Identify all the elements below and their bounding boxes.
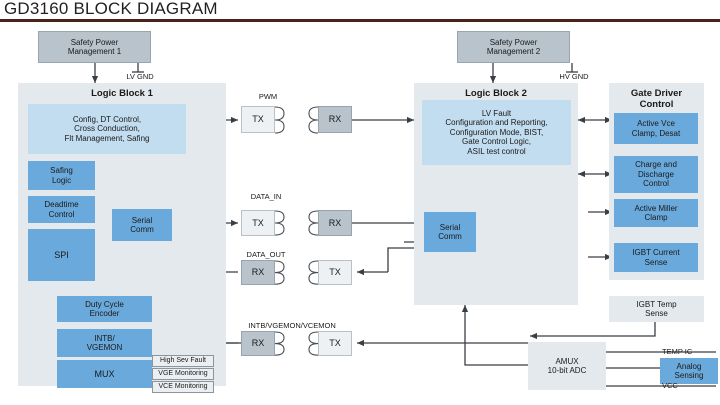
data-out-channel-label: DATA_OUT — [231, 250, 301, 259]
logic-block-2-title: Logic Block 2 — [414, 88, 578, 99]
intb-rx-block: RX — [241, 331, 275, 356]
active-vce-clamp-desat-block: Active Vce Clamp, Desat — [614, 113, 698, 144]
spm1-line1: Safety Power — [71, 38, 119, 47]
pwm-tx-label: TX — [252, 114, 264, 125]
temp-ic-label: TEMP IC — [662, 347, 718, 356]
deadtime-control-block: Deadtime Control — [28, 196, 95, 223]
hv-gnd-label: HV GND — [554, 72, 594, 81]
safety-power-management-1-block: Safety Power Management 1 — [38, 31, 151, 63]
spi-label: SPI — [54, 250, 69, 261]
data-out-tx-label: TX — [329, 267, 341, 278]
spm1-line2: Management 1 — [68, 47, 121, 56]
gdc-1-line1: Charge and — [635, 160, 677, 169]
gdc-0-line2: Clamp, Desat — [632, 129, 680, 138]
spm2-line2: Management 2 — [487, 47, 540, 56]
mux-signal-0-label: High Sev Fault — [160, 357, 206, 365]
intb-tx-label: TX — [329, 338, 341, 349]
title-bar: GD3160 BLOCK DIAGRAM — [0, 0, 720, 22]
serial-comm-lb1-block: Serial Comm — [112, 209, 172, 241]
mux-signal-vce-monitoring: VCE Monitoring — [152, 381, 214, 393]
duty-cycle-encoder-block: Duty Cycle Encoder — [57, 296, 152, 322]
gdc-3-line1: IGBT Current — [632, 248, 679, 257]
data-in-channel-label: DATA_IN — [231, 192, 301, 201]
intb-tx-block: TX — [318, 331, 352, 356]
deadtime-line2: Control — [49, 210, 75, 219]
gdc-0-line1: Active Vce — [637, 119, 675, 128]
amux-line1: AMUX — [555, 357, 578, 366]
igbt-temp-line2: Sense — [645, 309, 668, 318]
lv-fault-line3: Configuration Mode, BIST, — [450, 128, 543, 137]
gdc-2-line1: Active Miller — [634, 204, 677, 213]
gate-driver-control-title-line2: Control — [609, 99, 704, 110]
data-out-tx-block: TX — [318, 260, 352, 285]
lv-fault-line4: Gate Control Logic, — [462, 137, 531, 146]
mux-signal-vge-monitoring: VGE Monitoring — [152, 368, 214, 380]
intb-line1: INTB/ — [94, 334, 114, 343]
intb-channel-label: INTB/VGEMON/VCEMON — [222, 321, 362, 330]
gate-driver-control-title-line1: Gate Driver — [609, 88, 704, 99]
safing-line2: Logic — [52, 176, 71, 185]
serial-comm-lb1-line2: Comm — [130, 225, 154, 234]
lv-fault-block: LV Fault Configuration and Reporting, Co… — [422, 100, 571, 165]
duty-cycle-line2: Encoder — [90, 309, 120, 318]
mux-signal-1-label: VGE Monitoring — [158, 370, 207, 378]
page-title: GD3160 BLOCK DIAGRAM — [4, 0, 218, 19]
igbt-current-sense-block: IGBT Current Sense — [614, 243, 698, 272]
igbt-temp-sense-block: IGBT Temp Sense — [609, 296, 704, 322]
safing-line1: Safing — [50, 166, 73, 175]
gdc-1-line2: Discharge — [638, 170, 674, 179]
intb-rx-label: RX — [252, 338, 265, 349]
title-underline — [0, 19, 720, 22]
igbt-temp-line1: IGBT Temp — [636, 300, 676, 309]
mux-signal-high-sev-fault: High Sev Fault — [152, 355, 214, 367]
amux-line2: 10-bit ADC — [548, 366, 587, 375]
config-line1: Config, DT Control, — [73, 115, 141, 124]
pwm-rx-label: RX — [329, 114, 342, 125]
intb-line2: VGEMON — [87, 343, 123, 352]
intb-vgemon-block: INTB/ VGEMON — [57, 329, 152, 357]
gdc-1-line3: Control — [643, 179, 669, 188]
spi-block: SPI — [28, 229, 95, 281]
spm2-line1: Safety Power — [490, 38, 538, 47]
data-out-rx-block: RX — [241, 260, 275, 285]
serial-comm-lb2-line1: Serial — [440, 223, 460, 232]
serial-comm-lb2-line2: Comm — [438, 232, 462, 241]
gdc-3-line2: Sense — [645, 258, 668, 267]
mux-signal-2-label: VCE Monitoring — [158, 383, 207, 391]
deadtime-line1: Deadtime — [44, 200, 78, 209]
mux-label: MUX — [95, 369, 115, 380]
gdc-2-line2: Clamp — [644, 213, 667, 222]
config-dt-control-block: Config, DT Control, Cross Conduction, Fl… — [28, 104, 186, 154]
lv-fault-line5: ASIL test control — [467, 147, 525, 156]
block-diagram-canvas: GD3160 BLOCK DIAGRAM — [0, 0, 720, 405]
data-in-rx-block: RX — [318, 210, 352, 236]
pwm-rx-block: RX — [318, 106, 352, 133]
charge-and-discharge-control-block: Charge and Discharge Control — [614, 156, 698, 193]
serial-comm-lb2-block: Serial Comm — [424, 212, 476, 252]
vcc-label: VCC — [662, 381, 718, 390]
duty-cycle-line1: Duty Cycle — [85, 300, 124, 309]
analog-sensing-line2: Sensing — [675, 371, 704, 380]
amux-adc-block: AMUX 10-bit ADC — [528, 342, 606, 390]
safety-power-management-2-block: Safety Power Management 2 — [457, 31, 570, 63]
lv-fault-line2: Configuration and Reporting, — [445, 118, 547, 127]
mux-block: MUX — [57, 360, 152, 388]
data-in-rx-label: RX — [329, 218, 342, 229]
pwm-channel-label: PWM — [238, 92, 298, 101]
active-miller-clamp-block: Active Miller Clamp — [614, 199, 698, 227]
config-line2: Cross Conduction, — [74, 124, 140, 133]
analog-sensing-line1: Analog — [677, 362, 702, 371]
config-line3: Flt Management, Safing — [65, 134, 150, 143]
data-in-tx-label: TX — [252, 218, 264, 229]
data-in-tx-block: TX — [241, 210, 275, 236]
lv-fault-line1: LV Fault — [482, 109, 511, 118]
pwm-tx-block: TX — [241, 106, 275, 133]
data-out-rx-label: RX — [252, 267, 265, 278]
lv-gnd-label: LV GND — [120, 72, 160, 81]
serial-comm-lb1-line1: Serial — [132, 216, 152, 225]
logic-block-1-title: Logic Block 1 — [18, 88, 226, 99]
safing-logic-block: Safing Logic — [28, 161, 95, 190]
